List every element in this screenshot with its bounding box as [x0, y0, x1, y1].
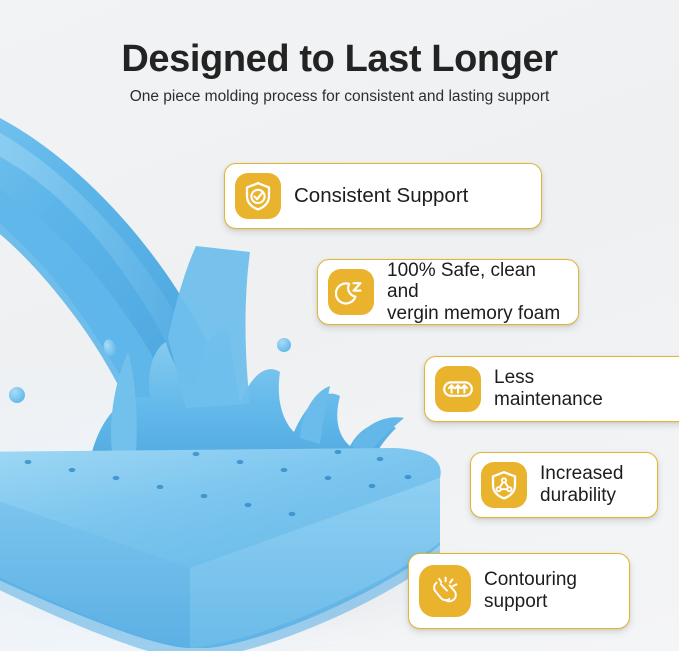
product-infographic: Designed to Last Longer One piece moldin…: [0, 0, 679, 651]
feature-card-label: Less maintenance: [494, 367, 603, 410]
feature-card-label: Contouring support: [484, 569, 577, 612]
feature-card-label: Consistent Support: [294, 184, 468, 207]
clapping-hands-icon: [419, 565, 471, 617]
shield-check-icon: [235, 173, 281, 219]
feature-card-label: Increased durability: [540, 463, 623, 506]
feature-card-safe-memory-foam[interactable]: 100% Safe, clean and vergin memory foam: [317, 259, 579, 325]
feature-card-label: 100% Safe, clean and vergin memory foam: [387, 260, 562, 325]
splash-pillow-illustration: [0, 0, 470, 651]
moon-sleep-icon: [328, 269, 374, 315]
feature-card-increased-durability[interactable]: Increased durability: [470, 452, 658, 518]
feature-card-contouring-support[interactable]: Contouring support: [408, 553, 630, 629]
feature-card-less-maintenance[interactable]: Less maintenance: [424, 356, 679, 422]
mattress-arrows-icon: [435, 366, 481, 412]
feature-card-consistent-support[interactable]: Consistent Support: [224, 163, 542, 229]
shield-molecule-icon: [481, 462, 527, 508]
